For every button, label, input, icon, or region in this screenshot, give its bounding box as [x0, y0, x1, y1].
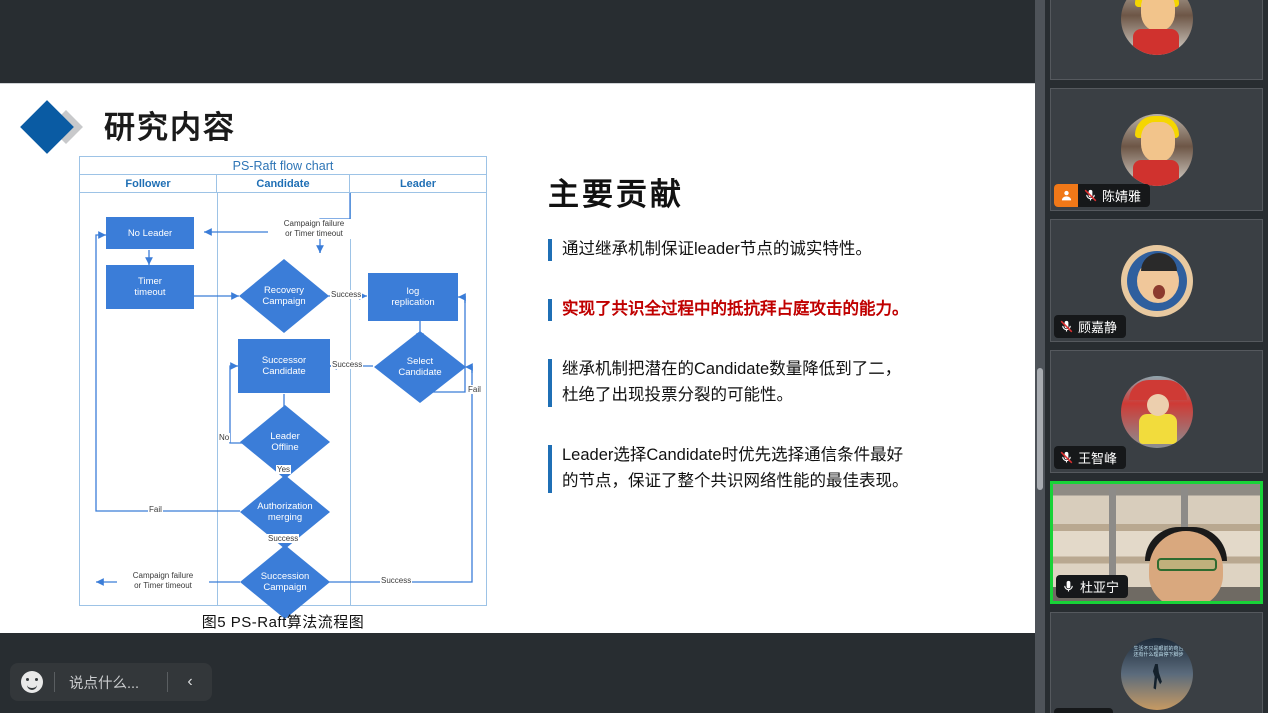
meeting-screen-share-window: 研究内容 PS-Raft flow chart Follower Candida…	[0, 0, 1268, 713]
flowchart-lane-headers: Follower Candidate Leader	[80, 175, 486, 193]
chevron-left-icon[interactable]: ‹	[168, 673, 212, 691]
smiley-face-icon	[21, 671, 43, 693]
page-title: 研究内容	[104, 112, 236, 143]
flowchart-body: No Leader Timer timeout Successor Candid…	[80, 193, 486, 605]
participant-filmstrip[interactable]: 陈婧雅 顾嘉静	[1045, 0, 1268, 713]
participant-name: 王智峰	[1078, 448, 1126, 467]
participant-tile-partial-top[interactable]	[1050, 0, 1263, 80]
participant-name: 顾嘉静	[1078, 317, 1126, 336]
node-recovery-campaign: Recovery Campaign	[239, 259, 329, 333]
chat-message-input[interactable]: 说点什么...	[55, 672, 167, 693]
edge-label-fail-left: Fail	[148, 505, 163, 514]
node-succession-campaign: Succession Campaign	[240, 545, 330, 619]
nameplate: 陶冶	[1054, 708, 1113, 713]
participant-tile-wangzhifeng[interactable]: 王智峰	[1050, 350, 1263, 473]
contributions-section: 主要贡献 通过继承机制保证leader节点的诚实特性。 实现了共识全过程中的抵抗…	[548, 169, 1008, 528]
avatar	[1121, 245, 1193, 317]
avatar	[1121, 114, 1193, 186]
blue-diamond-icon	[28, 102, 90, 152]
node-no-leader: No Leader	[106, 217, 194, 249]
edge-label-fail-right: Fail	[467, 385, 482, 394]
avatar	[1121, 376, 1193, 448]
contributions-title: 主要贡献	[548, 169, 1008, 214]
lane-header-follower: Follower	[80, 175, 217, 192]
host-badge-icon	[1054, 184, 1078, 207]
contribution-item-4: Leader选择Candidate时优先选择通信条件最好 的节点，保证了整个共识…	[548, 442, 1008, 494]
lane-header-candidate: Candidate	[217, 175, 350, 192]
edge-label-campaign-failure-bottom: Campaign failure or Timer timeout	[117, 571, 209, 591]
blue-diamond-shape-icon	[20, 100, 74, 154]
participant-name: 杜亚宁	[1080, 577, 1128, 596]
contribution-item-2: 实现了共识全过程中的抵抗拜占庭攻击的能力。	[548, 296, 1008, 322]
lane-header-leader: Leader	[350, 175, 486, 192]
figure-caption: 图5 PS-Raft算法流程图	[79, 611, 487, 632]
edge-label-campaign-failure-top: Campaign failure or Timer timeout	[270, 219, 358, 239]
avatar	[1121, 0, 1193, 55]
flowchart-title: PS-Raft flow chart	[80, 157, 486, 175]
slide-heading: 研究内容	[28, 102, 236, 152]
presentation-slide: 研究内容 PS-Raft flow chart Follower Candida…	[0, 83, 1035, 633]
mic-muted-icon	[1078, 188, 1102, 203]
edge-label-success-select: Success	[331, 360, 363, 369]
edge-label-yes: Yes	[276, 465, 291, 474]
flowchart-figure: PS-Raft flow chart Follower Candidate Le…	[79, 156, 487, 606]
participant-name: 陈婧雅	[1102, 186, 1150, 205]
node-log-replication: log replication	[368, 273, 458, 321]
participant-panel-scrollbar[interactable]	[1035, 0, 1045, 713]
edge-label-no: No	[218, 433, 230, 442]
participant-tile-duyaning[interactable]: 杜亚宁	[1050, 481, 1263, 604]
stage-top-letterbox	[0, 0, 1035, 82]
emoji-picker-button[interactable]	[10, 671, 54, 693]
participant-tile-taoye[interactable]: 生活不只是眼前的苟且还有什么理由停下脚步 陶冶	[1050, 612, 1263, 713]
edge-label-success-mid: Success	[267, 534, 299, 543]
edge-label-success-recovery: Success	[330, 290, 362, 299]
contribution-item-3: 继承机制把潜在的Candidate数量降低到了二， 杜绝了出现投票分裂的可能性。	[548, 356, 1008, 408]
nameplate: 陈婧雅	[1054, 184, 1150, 207]
node-successor-candidate: Successor Candidate	[238, 339, 330, 393]
mic-muted-icon	[1054, 450, 1078, 465]
participant-tile-chenjingya[interactable]: 陈婧雅	[1050, 88, 1263, 211]
scrollbar-thumb[interactable]	[1037, 368, 1043, 490]
mic-active-icon	[1056, 579, 1080, 594]
mic-muted-icon	[1054, 319, 1078, 334]
edge-label-success-bottom: Success	[380, 576, 412, 585]
participant-tile-gujiajing[interactable]: 顾嘉静	[1050, 219, 1263, 342]
node-select-candidate: Select Candidate	[374, 331, 466, 403]
avatar: 生活不只是眼前的苟且还有什么理由停下脚步	[1121, 638, 1193, 710]
contribution-item-1: 通过继承机制保证leader节点的诚实特性。	[548, 236, 1008, 262]
node-timer-timeout: Timer timeout	[106, 265, 194, 309]
shared-screen-stage[interactable]: 研究内容 PS-Raft flow chart Follower Candida…	[0, 0, 1035, 713]
chat-input-bar[interactable]: 说点什么... ‹	[10, 663, 212, 701]
nameplate: 顾嘉静	[1054, 315, 1126, 338]
nameplate: 杜亚宁	[1056, 575, 1128, 598]
nameplate: 王智峰	[1054, 446, 1126, 469]
